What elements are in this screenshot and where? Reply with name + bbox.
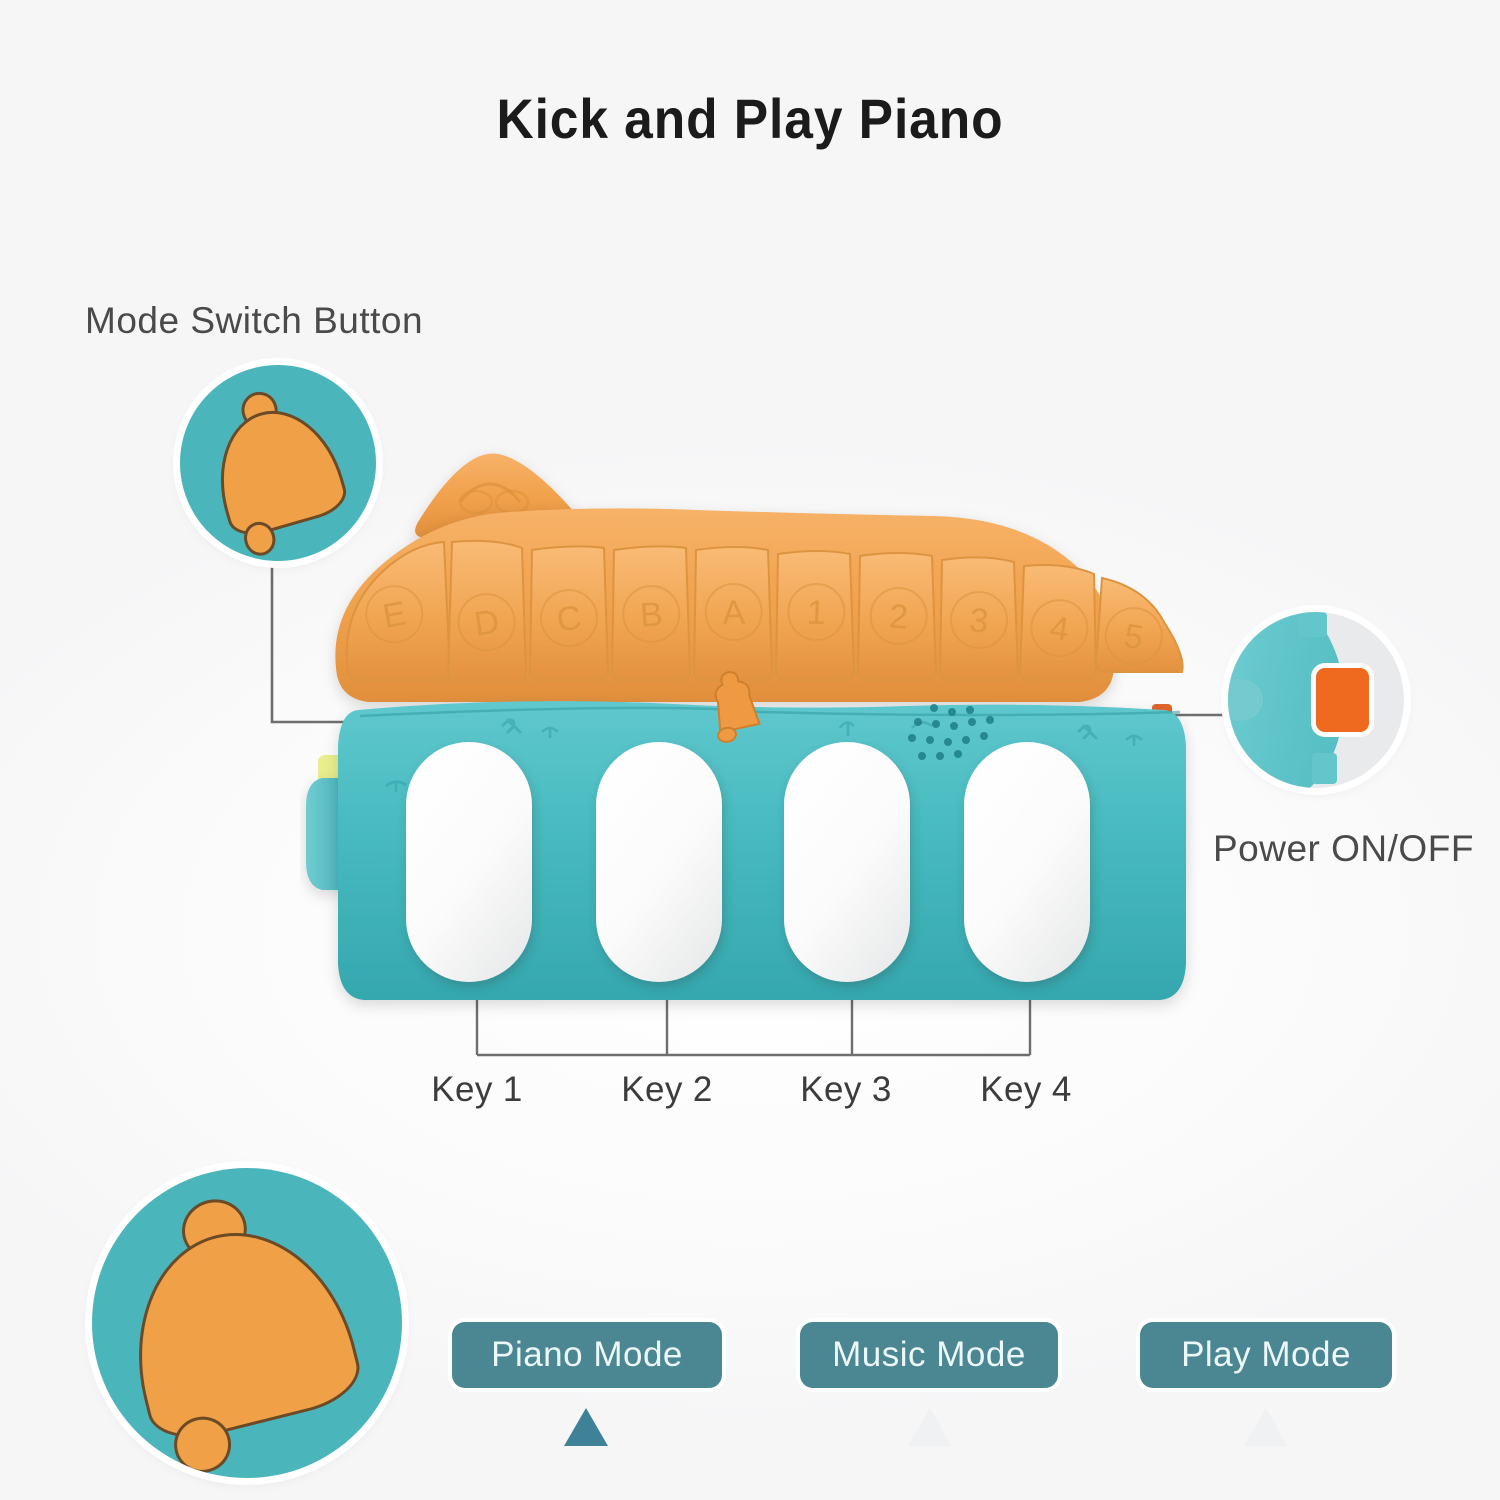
- ridge-label: 2: [888, 597, 910, 636]
- magnifier-power-switch: [1228, 612, 1404, 788]
- white-key[interactable]: [964, 742, 1090, 982]
- white-key[interactable]: [406, 742, 532, 982]
- toy-tab-top: [1298, 612, 1326, 637]
- page-title: Kick and Play Piano: [60, 86, 1440, 151]
- magnifier-mode-switch: [180, 365, 376, 561]
- key-caption: Key 3: [766, 1070, 926, 1110]
- mode-pill-play[interactable]: Play Mode: [1140, 1322, 1392, 1388]
- callout-label-power: Power ON/OFF: [1213, 828, 1474, 870]
- mode-pill-piano[interactable]: Piano Mode: [452, 1322, 722, 1388]
- key-caption: Key 1: [397, 1070, 557, 1110]
- kick-and-play-piano-toy: E D C B A: [300, 410, 1220, 1030]
- ridge-label: C: [555, 599, 583, 639]
- mode-arrow-music: [908, 1408, 952, 1446]
- mode-arrow-play: [1244, 1408, 1288, 1446]
- white-key[interactable]: [596, 742, 722, 982]
- key-caption: Key 4: [946, 1070, 1106, 1110]
- magnifier-bell-large: [92, 1168, 402, 1478]
- white-key[interactable]: [784, 742, 910, 982]
- ridge-label: A: [722, 594, 746, 633]
- mode-pill-music[interactable]: Music Mode: [800, 1322, 1058, 1388]
- infographic-canvas: Kick and Play Piano: [0, 0, 1500, 1500]
- ridge-label: D: [472, 603, 502, 644]
- power-switch-icon[interactable]: [1316, 668, 1369, 731]
- orange-keyboard-top: E D C B A: [335, 454, 1182, 702]
- ridge-label: B: [639, 595, 664, 634]
- callout-label-mode-switch: Mode Switch Button: [85, 300, 423, 342]
- ridge-label: 3: [968, 601, 991, 641]
- toy-tab-bottom: [1312, 753, 1337, 785]
- mode-arrow-piano: [564, 1408, 608, 1446]
- ridge-label: 1: [806, 594, 826, 633]
- key-caption: Key 2: [587, 1070, 747, 1110]
